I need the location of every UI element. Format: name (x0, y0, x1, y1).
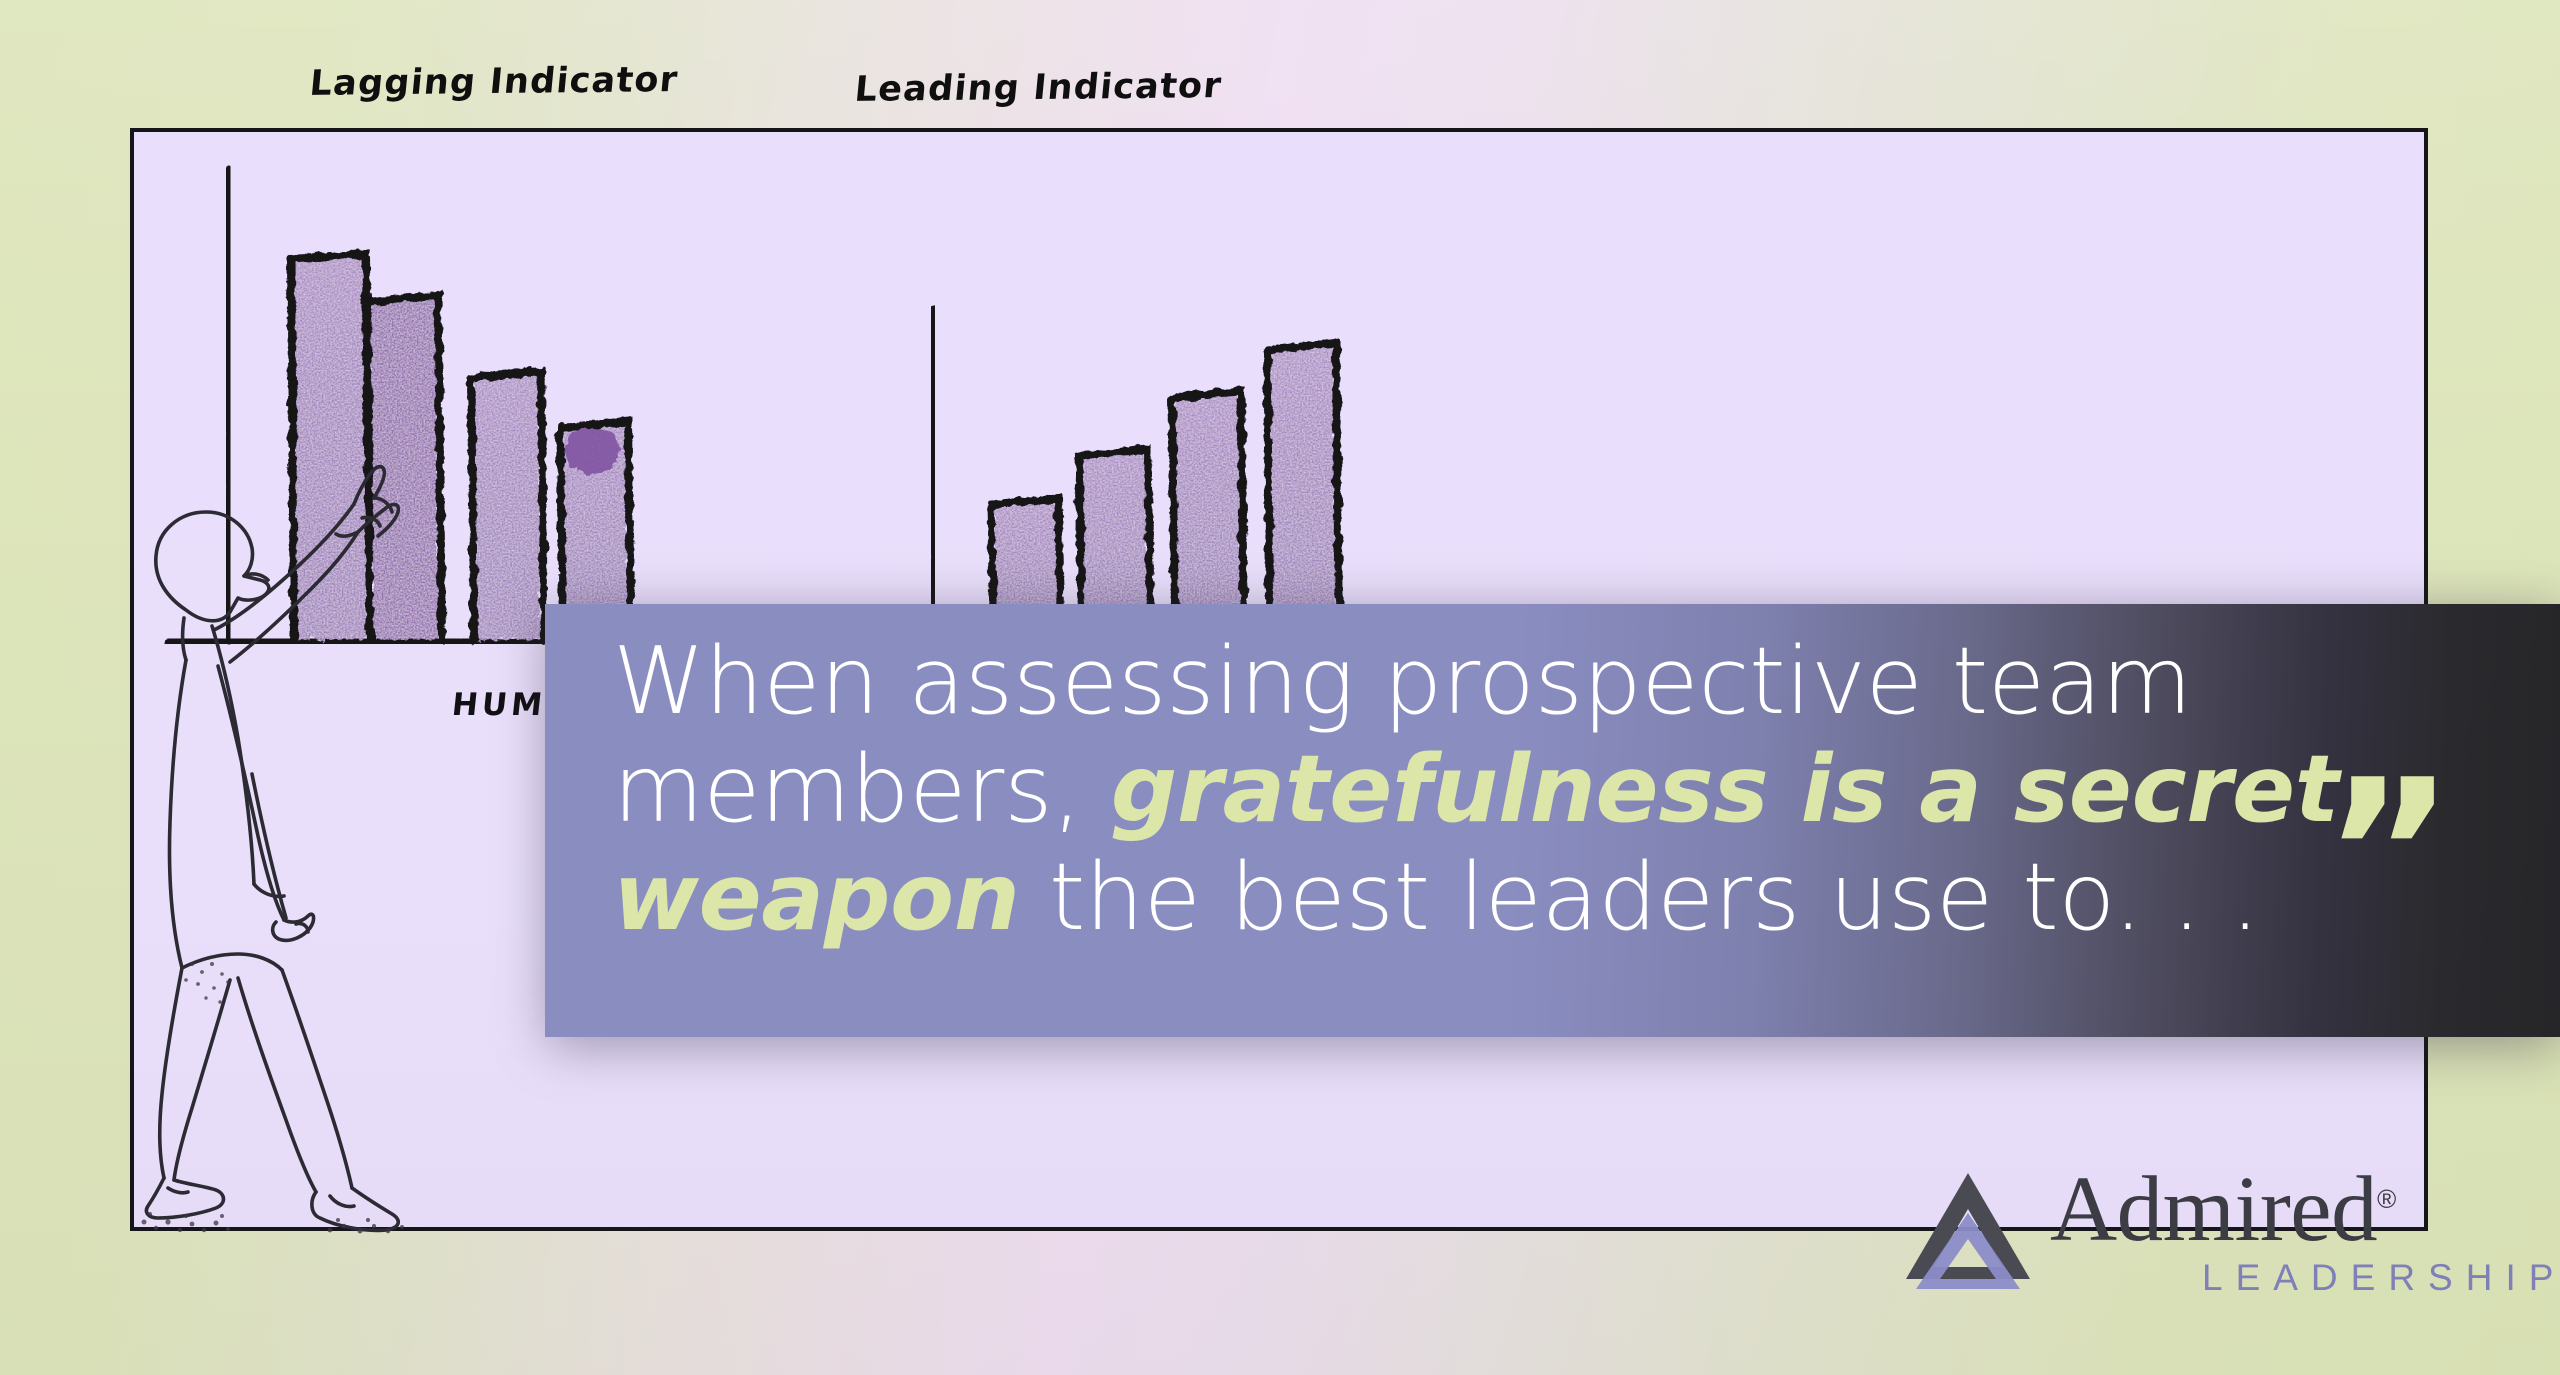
registered-trademark-icon: ® (2377, 1184, 2396, 1214)
leading-indicator-label: Leading Indicator (853, 66, 1224, 110)
lagging-indicator-label: Lagging Indicator (308, 60, 680, 104)
admired-triangle-mark (1904, 1169, 2034, 1289)
admired-leadership-logo: Admired® LEADERSHIP (1904, 1169, 2444, 1299)
logo-wordmark-text: Admired (2050, 1158, 2377, 1261)
quote-banner: When assessing prospective team members,… (545, 604, 2560, 1037)
slide-canvas: HUMILITY GRATITUDE Admired® LEADERSHIP L… (0, 0, 2560, 1375)
chart-group-humility (168, 170, 1026, 643)
logo-wordmark: Admired® (2050, 1163, 2396, 1256)
closing-quotation-mark: ” (2323, 754, 2448, 954)
chart-group-gratitude (894, 310, 1396, 647)
logo-subtitle: LEADERSHIP (2202, 1257, 2560, 1299)
quote-part-2: the best leaders use to. . . (1020, 843, 2260, 951)
quote-text: When assessing prospective team members,… (613, 628, 2513, 952)
